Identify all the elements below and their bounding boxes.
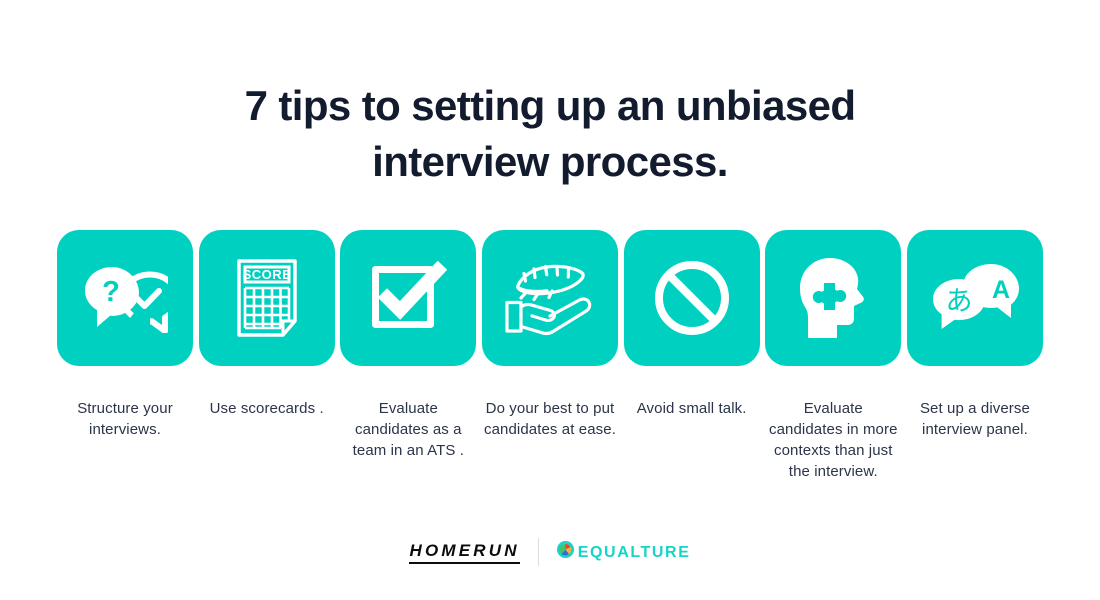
homerun-logo: HOMERUN: [409, 541, 519, 564]
tip-tile-3: [340, 230, 476, 366]
tips-caption-row: Structure your interviews. Use scorecard…: [57, 398, 1043, 482]
tip-caption-1: Structure your interviews.: [57, 398, 193, 440]
footer-divider: [538, 538, 539, 566]
scorecard-label: SCORE: [242, 267, 291, 282]
tip-tile-6: [765, 230, 901, 366]
tip-caption-6: Evaluate candidates in more contexts tha…: [765, 398, 901, 482]
tip-caption-4: Do your best to put candidates at ease.: [482, 398, 618, 440]
tip-tile-5: [624, 230, 760, 366]
translation-speech-bubbles-icon: A あ: [931, 261, 1019, 335]
infographic-page: 7 tips to setting up an unbiased intervi…: [0, 0, 1100, 600]
tip-tile-1: ?: [57, 230, 193, 366]
page-title-line-2: interview process.: [0, 134, 1100, 190]
checked-checkbox-icon: [368, 260, 448, 336]
hand-holding-feather-icon: [502, 260, 598, 336]
tip-caption-2: Use scorecards .: [199, 398, 335, 419]
page-title-line-1: 7 tips to setting up an unbiased: [0, 78, 1100, 134]
footer-logos: HOMERUN EQUALTURE: [0, 538, 1100, 566]
prohibition-no-sign-icon: [653, 259, 731, 337]
scorecard-sheet-icon: SCORE: [236, 258, 298, 338]
question-check-speech-bubbles-icon: ?: [82, 263, 168, 333]
translation-glyph-left: あ: [945, 286, 972, 317]
translation-glyph-right: A: [992, 276, 1010, 304]
tip-caption-3: Evaluate candidates as a team in an ATS …: [340, 398, 476, 461]
head-puzzle-piece-icon: [793, 256, 873, 340]
page-title: 7 tips to setting up an unbiased intervi…: [0, 78, 1100, 190]
tip-caption-5: Avoid small talk.: [624, 398, 760, 419]
equalture-logo: EQUALTURE: [557, 541, 691, 563]
tips-icon-row: ? SCORE: [57, 230, 1043, 366]
tip-tile-4: [482, 230, 618, 366]
tip-tile-2: SCORE: [199, 230, 335, 366]
equalture-wordmark: EQUALTURE: [578, 543, 691, 562]
equalture-mark-icon: [557, 541, 574, 563]
svg-text:?: ?: [102, 276, 120, 308]
tip-caption-7: Set up a diverse interview panel.: [907, 398, 1043, 440]
tip-tile-7: A あ: [907, 230, 1043, 366]
